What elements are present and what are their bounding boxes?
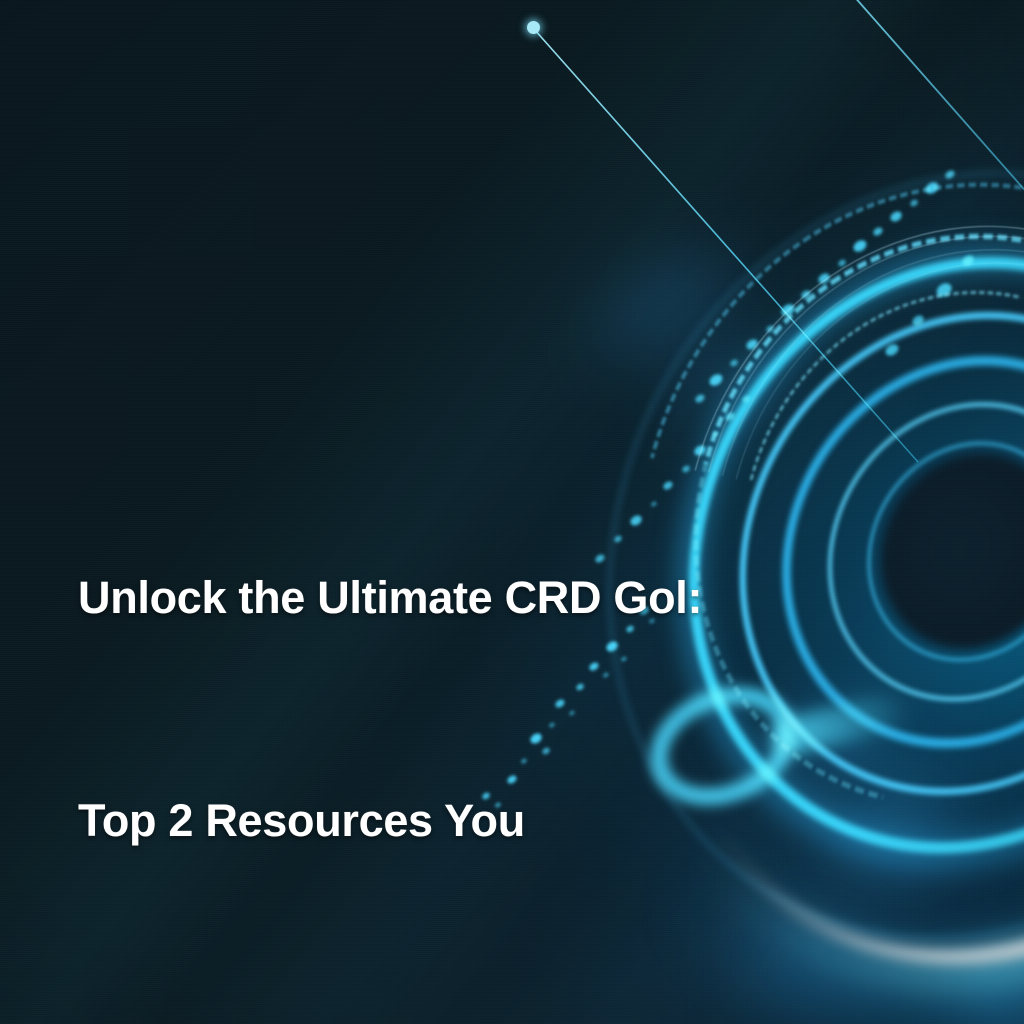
social-card-canvas: Unlock the Ultimate CRD Gol: Top 2 Resou…: [0, 0, 1024, 1024]
connector-line-from-node: [534, 29, 918, 462]
connector-line-top-right: [852, 0, 1024, 196]
page-title: Unlock the Ultimate CRD Gol: Top 2 Resou…: [78, 413, 838, 1024]
headline-line-3: Can't Miss: [78, 1006, 838, 1024]
headline-line-1: Unlock the Ultimate CRD Gol:: [78, 561, 838, 635]
headline-line-2: Top 2 Resources You: [78, 784, 838, 858]
glow-node-icon: [527, 21, 540, 34]
